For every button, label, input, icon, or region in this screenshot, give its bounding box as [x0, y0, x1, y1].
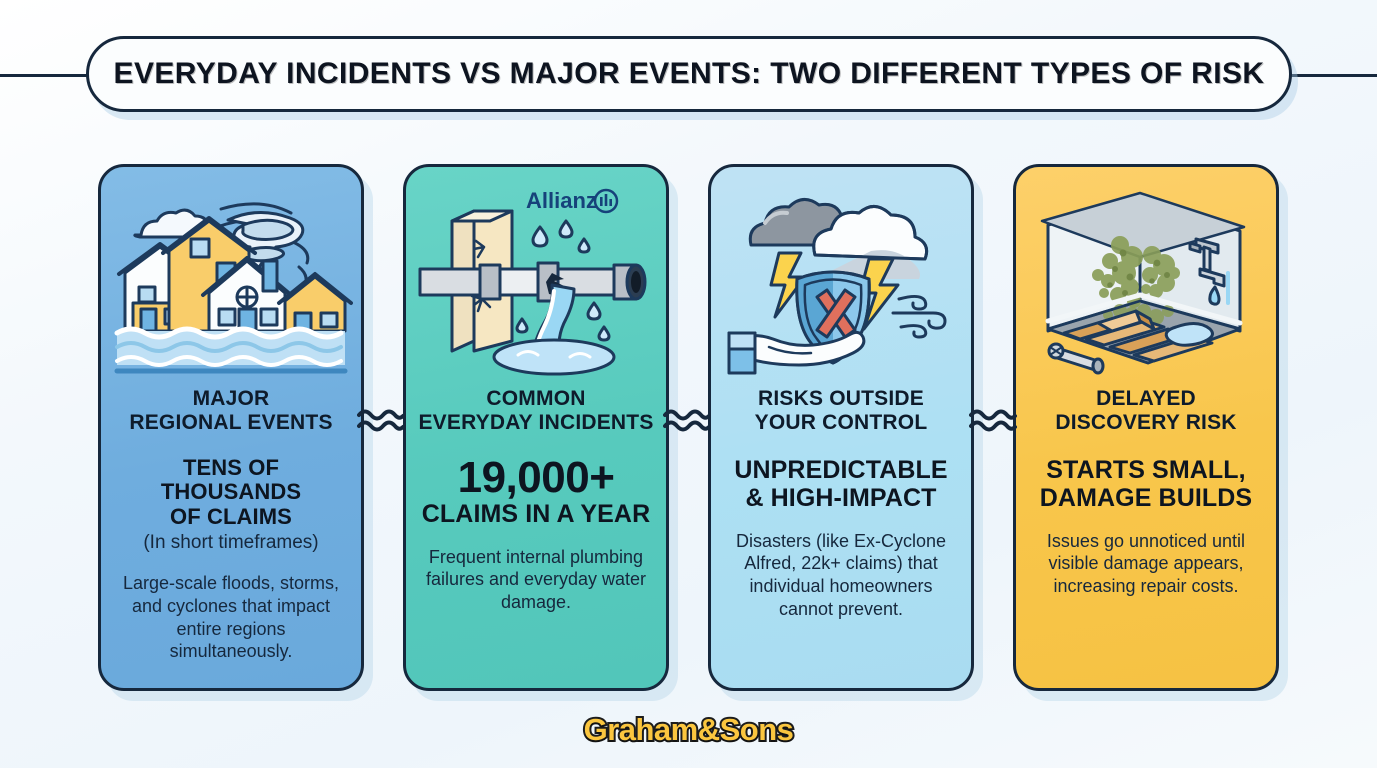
card-1-accent-block: TENS OF THOUSANDS OF CLAIMS (In short ti… — [111, 456, 351, 555]
card-2-accent: CLAIMS IN A YEAR — [422, 500, 650, 528]
mould-room-leaking-tap-icon — [1024, 181, 1268, 377]
card-1-heading-line-1: MAJOR — [129, 387, 332, 411]
card-1-accent-line-2: OF CLAIMS — [111, 505, 351, 530]
card-major-regional-events[interactable]: MAJOR REGIONAL EVENTS TENS OF THOUSANDS … — [98, 164, 364, 691]
card-4-accent-line-1: STARTS SMALL, — [1040, 456, 1252, 484]
title-banner: EVERYDAY INCIDENTS VS MAJOR EVENTS: TWO … — [86, 36, 1292, 112]
infographic-canvas: EVERYDAY INCIDENTS VS MAJOR EVENTS: TWO … — [0, 0, 1377, 768]
storm-shield-hand-icon — [719, 181, 963, 377]
wave-connector-2 — [663, 404, 711, 436]
card-4-accent-line-2: DAMAGE BUILDS — [1040, 484, 1252, 512]
card-2-heading: COMMON EVERYDAY INCIDENTS — [418, 387, 653, 436]
page-title: EVERYDAY INCIDENTS VS MAJOR EVENTS: TWO … — [114, 57, 1265, 91]
card-4-heading-line-1: DELAYED — [1055, 387, 1236, 411]
card-1-subnote: (In short timeframes) — [111, 532, 351, 555]
card-common-everyday-incidents[interactable]: Allianz — [403, 164, 669, 691]
card-3-accent-line-1: UNPREDICTABLE — [734, 456, 947, 484]
card-2-heading-line-2: EVERYDAY INCIDENTS — [418, 411, 653, 435]
card-3-description: Disasters (like Ex-Cyclone Alfred, 22k+ … — [721, 530, 961, 621]
card-delayed-discovery-risk[interactable]: DELAYED DISCOVERY RISK STARTS SMALL, DAM… — [1013, 164, 1279, 691]
flooded-houses-cyclone-icon — [109, 181, 353, 377]
card-3-accent-block: UNPREDICTABLE & HIGH-IMPACT — [734, 456, 947, 512]
card-2-description: Frequent internal plumbing failures and … — [416, 546, 656, 614]
card-3-heading: RISKS OUTSIDE YOUR CONTROL — [755, 387, 928, 436]
card-4-accent-block: STARTS SMALL, DAMAGE BUILDS — [1040, 456, 1252, 512]
burst-pipe-water-leak-icon: Allianz — [414, 181, 658, 377]
wave-connector-1 — [357, 404, 405, 436]
card-3-heading-line-1: RISKS OUTSIDE — [755, 387, 928, 411]
card-2-accent-block: 19,000+ CLAIMS IN A YEAR — [422, 456, 650, 528]
card-2-heading-line-1: COMMON — [418, 387, 653, 411]
card-1-heading: MAJOR REGIONAL EVENTS — [129, 387, 332, 436]
card-risks-outside-your-control[interactable]: RISKS OUTSIDE YOUR CONTROL UNPREDICTABLE… — [708, 164, 974, 691]
card-4-heading: DELAYED DISCOVERY RISK — [1055, 387, 1236, 436]
allianz-logo: Allianz — [526, 188, 617, 213]
card-4-description: Issues go unnoticed until visible damage… — [1026, 530, 1266, 598]
card-3-heading-line-2: YOUR CONTROL — [755, 411, 928, 435]
card-1-heading-line-2: REGIONAL EVENTS — [129, 411, 332, 435]
brand-logo-text: Graham&Sons — [584, 712, 794, 748]
card-4-heading-line-2: DISCOVERY RISK — [1055, 411, 1236, 435]
card-3-accent-line-2: & HIGH-IMPACT — [734, 484, 947, 512]
svg-text:Allianz: Allianz — [526, 188, 597, 213]
card-1-accent-line-1: TENS OF THOUSANDS — [111, 456, 351, 505]
card-2-big-number: 19,000+ — [422, 456, 650, 500]
footer-logo: Graham&Sons — [0, 712, 1377, 748]
card-1-description: Large-scale floods, storms, and cyclones… — [111, 572, 351, 663]
wave-connector-3 — [969, 404, 1017, 436]
